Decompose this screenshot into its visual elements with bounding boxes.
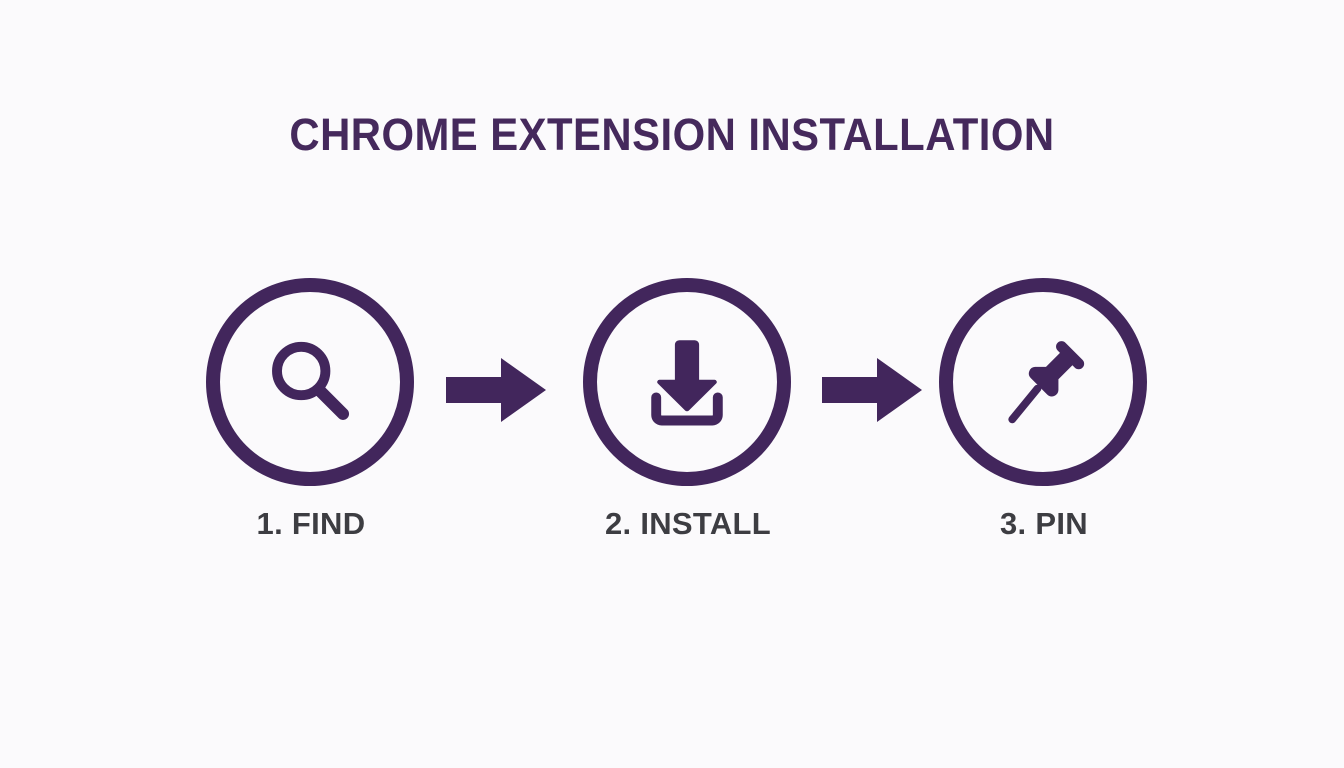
step-find[interactable]: 1. FIND	[206, 278, 416, 578]
arrow-right-icon-2	[822, 355, 922, 425]
pushpin-icon	[988, 327, 1098, 437]
steps-row: 1. FIND 2. INSTALL 3. PI	[0, 278, 1344, 578]
step-install[interactable]: 2. INSTALL	[583, 278, 793, 578]
download-icon	[632, 327, 742, 437]
step-pin[interactable]: 3. PIN	[939, 278, 1149, 578]
step-find-label: 1. FIND	[166, 506, 456, 542]
step-pin-circle	[939, 278, 1147, 486]
step-install-label: 2. INSTALL	[543, 506, 833, 542]
step-install-circle	[583, 278, 791, 486]
step-find-circle	[206, 278, 414, 486]
infographic-page: CHROME EXTENSION INSTALLATION 1. FIND 2.…	[0, 0, 1344, 768]
page-title: CHROME EXTENSION INSTALLATION	[47, 112, 1297, 157]
step-pin-label: 3. PIN	[899, 506, 1189, 542]
arrow-right-icon-1	[446, 355, 546, 425]
search-icon	[255, 327, 365, 437]
